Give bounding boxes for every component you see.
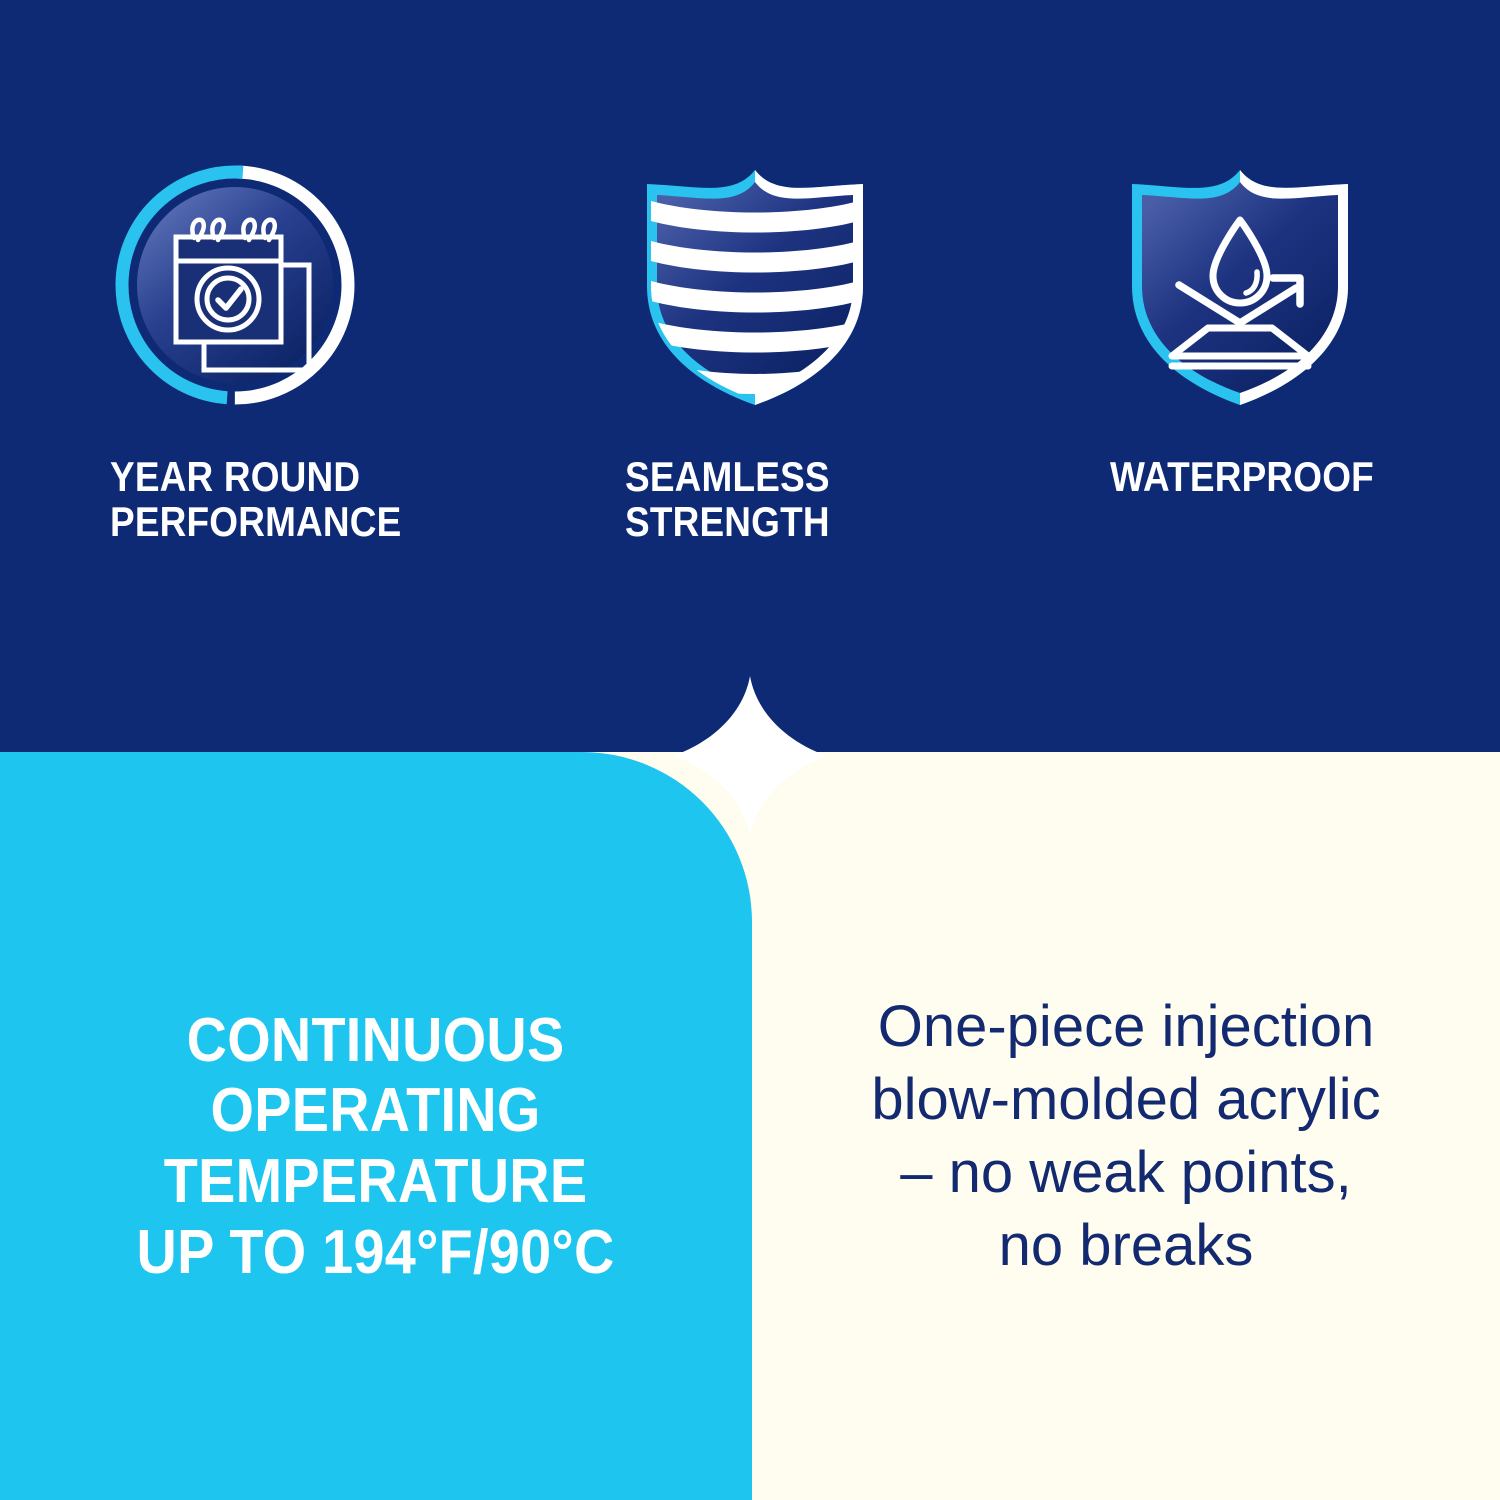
operating-temperature-panel: CONTINUOUS OPERATING TEMPERATURE UP TO 1… [0,752,752,1500]
feature-label-year-round-performance: YEAR ROUND PERFORMANCE [110,454,401,545]
waterproof-shield-icon [1110,160,1370,410]
feature-label-waterproof: WATERPROOF [1110,454,1374,499]
feature-item-year-round-performance: YEAR ROUND PERFORMANCE [0,160,500,580]
construction-description-text: One-piece injection blow-molded acrylic … [841,990,1410,1282]
calendar-check-circle-icon [110,160,360,410]
feature-label-seamless-strength: SEAMLESS STRENGTH [625,454,830,545]
striped-shield-icon [625,160,885,410]
feature-icon-row: YEAR ROUND PERFORMANCE [0,160,1500,580]
operating-temperature-text: CONTINUOUS OPERATING TEMPERATURE UP TO 1… [119,1006,633,1289]
construction-description-panel: One-piece injection blow-molded acrylic … [752,752,1500,1500]
feature-item-waterproof: WATERPROOF [1000,160,1500,580]
infographic-canvas: YEAR ROUND PERFORMANCE [0,0,1500,1500]
feature-item-seamless-strength: SEAMLESS STRENGTH [500,160,1000,580]
